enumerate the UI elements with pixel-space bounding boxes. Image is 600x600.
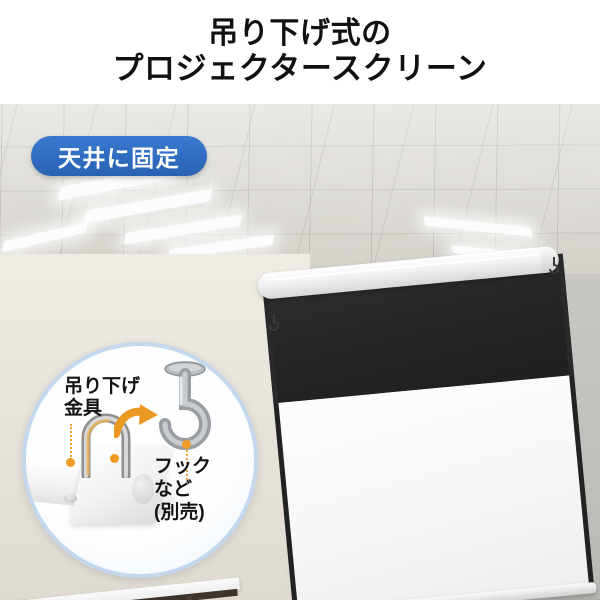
status-badge-label: 天井に固定 xyxy=(58,139,180,173)
detail-callout-circle: 吊り下げ 金具 フック など (別売) xyxy=(22,342,258,578)
hook-icon xyxy=(154,360,216,452)
callout-screw xyxy=(64,494,77,503)
header-banner: 吊り下げ式の プロジェクタースクリーン xyxy=(0,0,600,104)
ceiling-hook-right-icon xyxy=(548,257,560,275)
leader-line-bracket xyxy=(70,424,72,460)
screen-projection-surface xyxy=(273,375,594,600)
orange-arrow-icon xyxy=(114,404,160,438)
callout-label-hook-line-2: など xyxy=(154,479,192,500)
leader-dot-bracket xyxy=(66,458,75,467)
status-badge-ceiling-mount: 天井に固定 xyxy=(31,136,207,176)
callout-label-bracket-line-1: 吊り下げ xyxy=(64,376,140,397)
leader-dot-bracket-2 xyxy=(110,454,119,463)
page-title-line-1: 吊り下げ式の xyxy=(208,17,392,51)
callout-label-hook-line-3: (別売) xyxy=(154,502,205,523)
page-title-line-2: プロジェクタースクリーン xyxy=(112,52,487,87)
product-image: 吊り下げ式の プロジェクタースクリーン xyxy=(0,0,600,600)
callout-label-bracket-line-2: 金具 xyxy=(64,398,102,419)
projector-screen xyxy=(262,254,595,600)
ceiling-hook-left-icon xyxy=(268,314,280,332)
callout-end-cap-hole xyxy=(132,474,154,504)
callout-label-hook-line-1: フック xyxy=(154,456,211,477)
leader-dot-hook xyxy=(182,440,191,449)
